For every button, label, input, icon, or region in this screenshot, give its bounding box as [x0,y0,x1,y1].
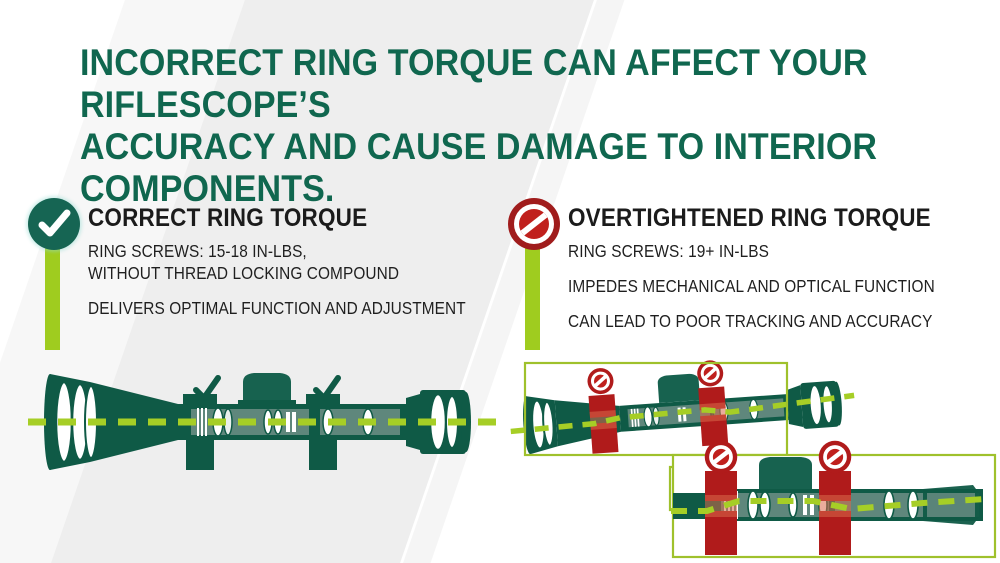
correct-line-3: DELIVERS OPTIMAL FUNCTION AND ADJUSTMENT [88,297,458,319]
prohibition-icon [587,367,615,395]
spacer [568,297,988,310]
zoom-callout [671,441,995,557]
overtightened-title: OVERTIGHTENED RING TORQUE [568,204,931,232]
prohibition-ring [514,204,554,244]
overtightened-body: RING SCREWS: 19+ IN-LBS IMPEDES MECHANIC… [568,240,988,332]
correct-badge-wrap [28,198,84,250]
overtightened-badge-wrap [508,198,564,250]
page-title: INCORRECT RING TORQUE CAN AFFECT YOUR RI… [80,42,890,210]
prohibition-inner [519,209,549,239]
overtightened-ring-rear-zoom [819,471,851,555]
overtightened-line-3: CAN LEAD TO POOR TRACKING AND ACCURACY [568,310,938,332]
correct-title: CORRECT RING TORQUE [88,204,367,232]
overtightened-stem-bar [525,242,540,350]
correct-line-1: RING SCREWS: 15-18 IN-LBS, [88,240,458,262]
correct-riflescope-diagram [28,360,498,490]
check-circle-icon [28,198,80,250]
spacer [568,262,988,275]
correct-body: RING SCREWS: 15-18 IN-LBS, WITHOUT THREA… [88,240,508,319]
overtightened-riflescope-diagram [510,355,1000,563]
overtightened-ring-rear [698,386,728,446]
correct-line-2: WITHOUT THREAD LOCKING COMPOUND [88,262,458,284]
infographic-canvas: INCORRECT RING TORQUE CAN AFFECT YOUR RI… [0,0,1000,563]
prohibition-icon [508,198,560,250]
overtightened-line-2: IMPEDES MECHANICAL AND OPTICAL FUNCTION [568,275,938,297]
prohibition-slash [520,212,547,235]
overtightened-line-1: RING SCREWS: 19+ IN-LBS [568,240,938,262]
spacer [88,284,508,297]
correct-stem-bar [45,242,60,350]
check-mark-icon [28,198,80,250]
prohibition-icon [819,441,852,474]
prohibition-icon [705,441,738,474]
